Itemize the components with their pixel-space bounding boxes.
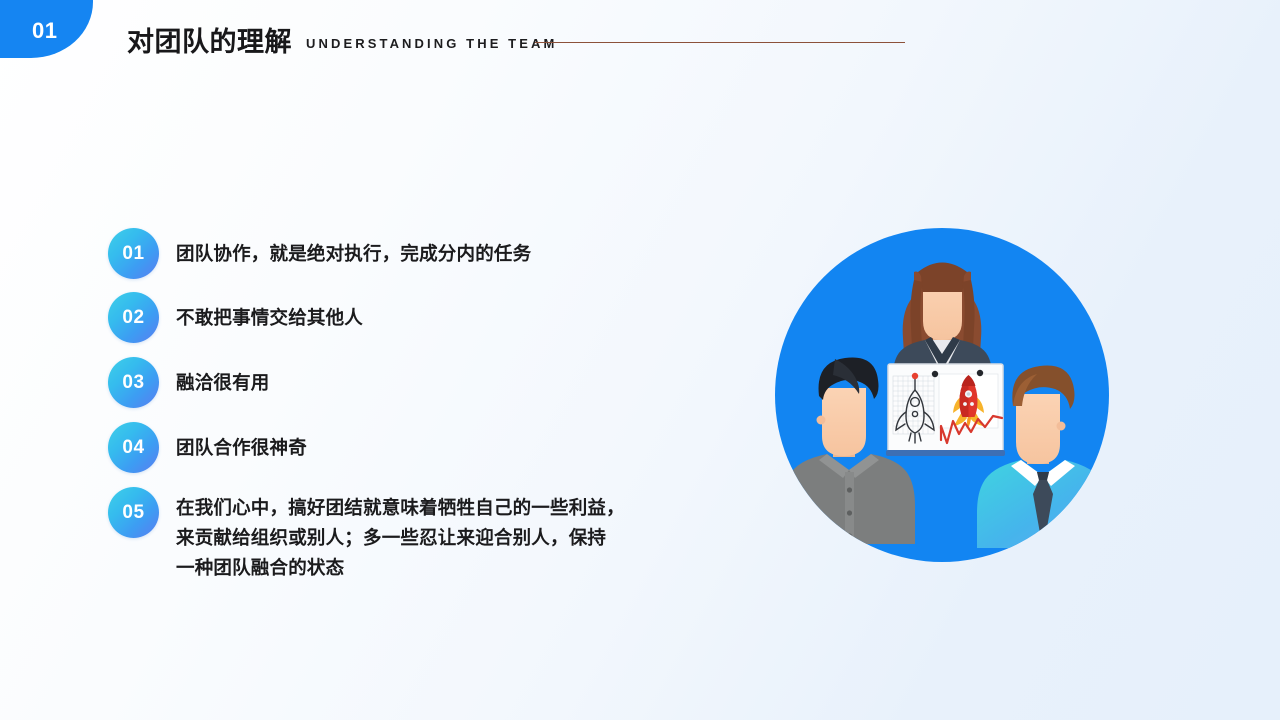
list-item-number: 03 <box>122 373 144 392</box>
list-item: 02 不敢把事情交给其他人 <box>108 292 728 343</box>
list-item-text: 融洽很有用 <box>176 357 270 398</box>
list-item-text: 在我们心中，搞好团结就意味着牺牲自己的一些利益， 来贡献给组织或别人；多一些忍让… <box>176 487 625 583</box>
points-list: 01 团队协作，就是绝对执行，完成分内的任务 02 不敢把事情交给其他人 03 … <box>108 228 728 583</box>
list-item: 04 团队合作很神奇 <box>108 422 728 473</box>
list-item: 01 团队协作，就是绝对执行，完成分内的任务 <box>108 228 728 279</box>
list-item-number: 04 <box>122 438 144 457</box>
list-item-number-badge: 03 <box>108 357 159 408</box>
header-divider-line <box>535 42 905 43</box>
list-item-text: 团队协作，就是绝对执行，完成分内的任务 <box>176 228 531 269</box>
header-title-group: 对团队的理解 UNDERSTANDING THE TEAM <box>127 25 557 59</box>
page-subtitle: UNDERSTANDING THE TEAM <box>306 37 557 50</box>
section-number-badge: 01 <box>0 0 93 58</box>
magnet-dot <box>977 370 983 376</box>
list-item-number: 05 <box>122 503 144 522</box>
list-item-number-badge: 02 <box>108 292 159 343</box>
list-item-number-badge: 05 <box>108 487 159 538</box>
team-meeting-illustration <box>775 228 1109 562</box>
list-item-text: 不敢把事情交给其他人 <box>176 292 363 333</box>
list-item-number-badge: 01 <box>108 228 159 279</box>
whiteboard <box>886 364 1005 456</box>
list-item-number: 01 <box>122 244 144 263</box>
list-item-number: 02 <box>122 308 144 327</box>
list-item: 05 在我们心中，搞好团结就意味着牺牲自己的一些利益， 来贡献给组织或别人；多一… <box>108 487 728 583</box>
magnet-dot <box>932 371 938 377</box>
list-item-number-badge: 04 <box>108 422 159 473</box>
list-item-text: 团队合作很神奇 <box>176 422 307 463</box>
list-item: 03 融洽很有用 <box>108 357 728 408</box>
slide-canvas: 01 对团队的理解 UNDERSTANDING THE TEAM 01 团队协作… <box>0 0 1280 720</box>
section-number-label: 01 <box>32 20 57 42</box>
page-title: 对团队的理解 <box>127 29 292 56</box>
